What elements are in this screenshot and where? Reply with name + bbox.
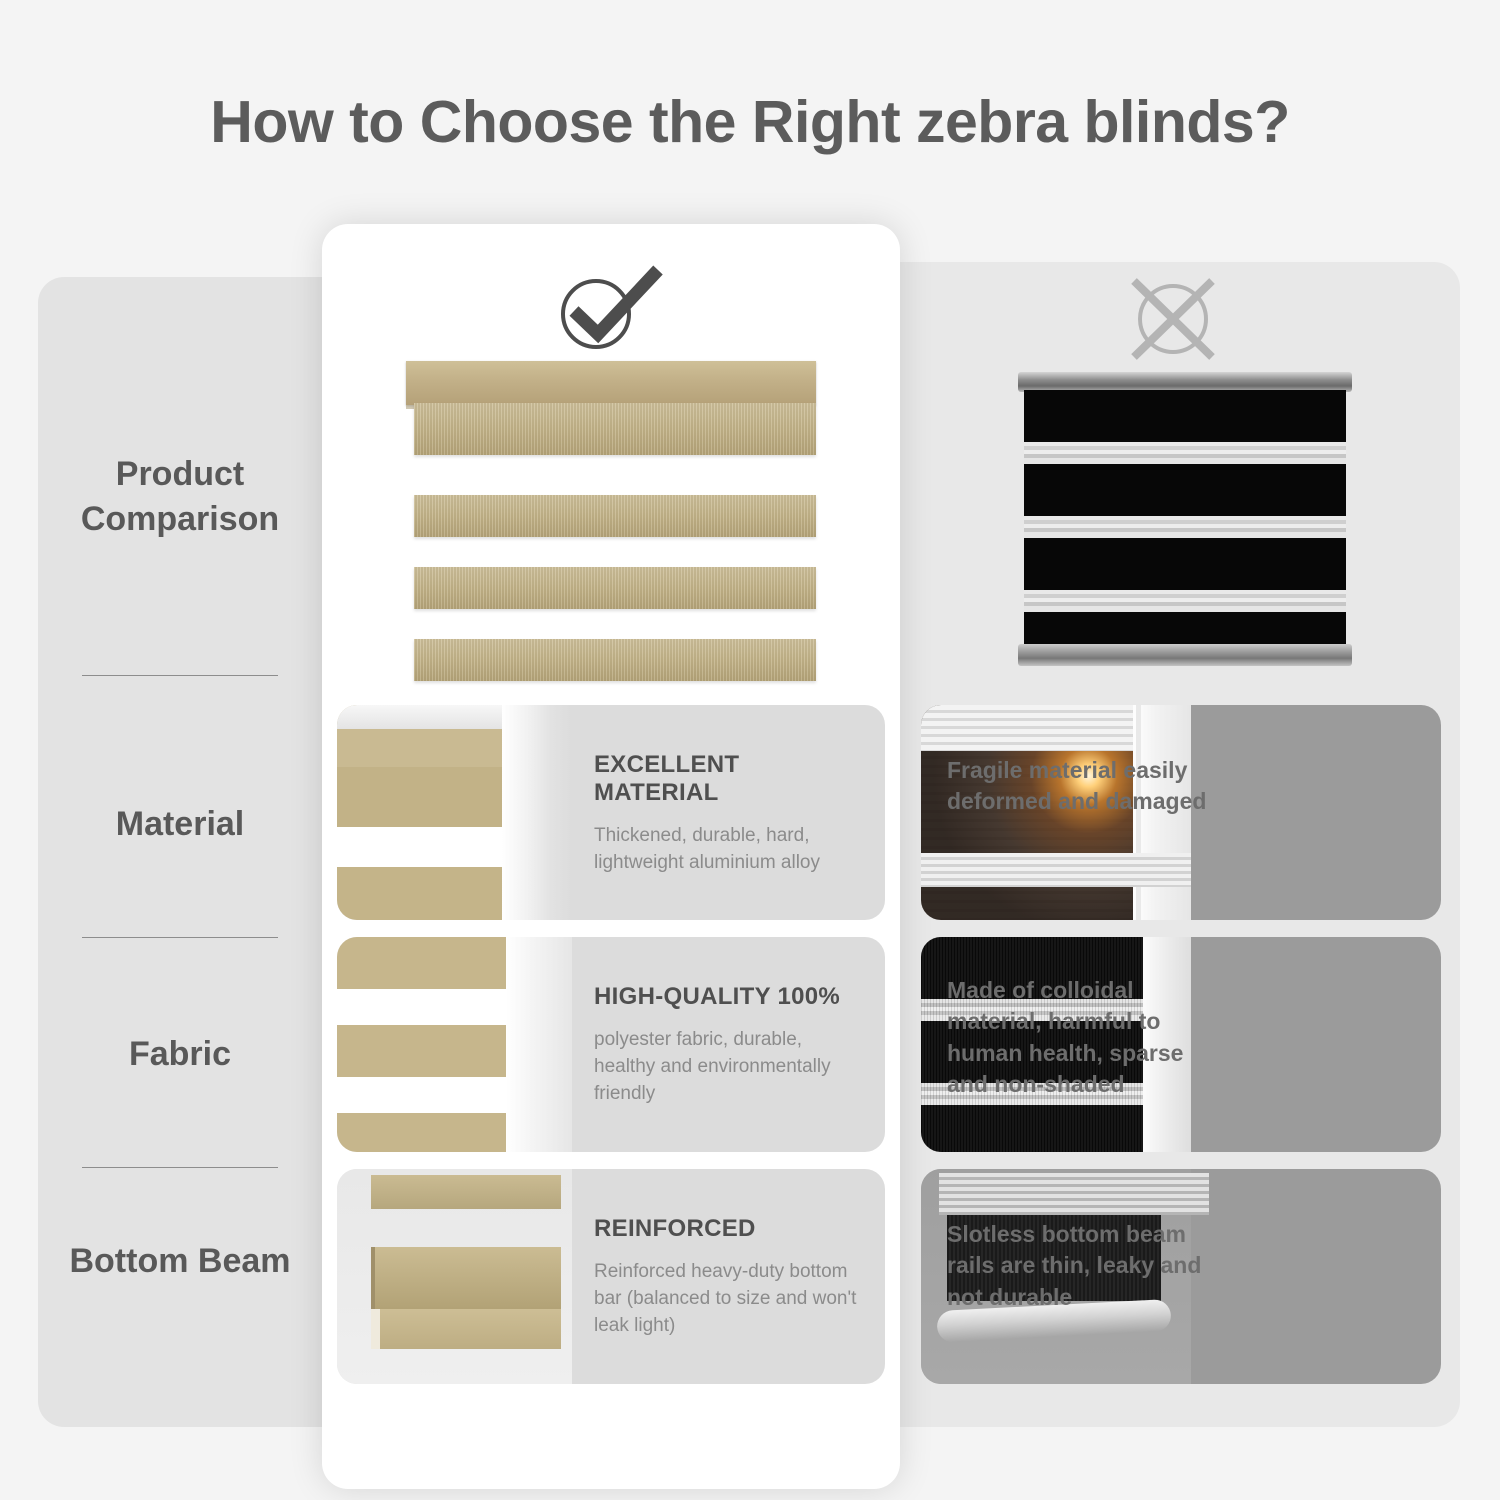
row-label-product-comparison: Product Comparison (38, 452, 322, 542)
bad-bottom-beam-text: Slotless bottom beam rails are thin, lea… (947, 1219, 1207, 1313)
bad-fabric-text: Made of colloidal material, harmful to h… (947, 975, 1207, 1100)
row-divider (82, 1167, 278, 1168)
row-label-column: Product Comparison Material Fabric Botto… (38, 277, 322, 1427)
good-product-hero-image (322, 345, 900, 700)
good-bottom-beam-text: REINFORCED Reinforced heavy-duty bottom … (572, 1169, 885, 1384)
good-feature-card-bottom-beam: REINFORCED Reinforced heavy-duty bottom … (337, 1169, 885, 1384)
row-label-fabric: Fabric (38, 1032, 322, 1077)
row-divider (82, 937, 278, 938)
good-fabric-text: HIGH-QUALITY 100% polyester fabric, dura… (572, 937, 885, 1152)
blind-slat (414, 567, 816, 609)
blind-valance (406, 361, 816, 405)
row-label-bottom-beam: Bottom Beam (38, 1239, 322, 1284)
good-feature-card-fabric: HIGH-QUALITY 100% polyester fabric, dura… (337, 937, 885, 1152)
good-fabric-image (337, 937, 572, 1152)
blind-top-rail (1018, 372, 1352, 392)
blind-slat (414, 639, 816, 681)
blind-slat (414, 495, 816, 537)
good-fabric-title: HIGH-QUALITY 100% (594, 983, 865, 1011)
good-material-body: Thickened, durable, hard, lightweight al… (594, 823, 865, 877)
good-bottom-beam-body: Reinforced heavy-duty bottom bar (balanc… (594, 1259, 865, 1340)
blind-bottom-bar (1018, 644, 1352, 666)
bad-material-text: Fragile material easily deformed and dam… (947, 755, 1207, 818)
blind-slat (414, 403, 816, 455)
bad-feature-card-fabric: Made of colloidal material, harmful to h… (921, 937, 1441, 1152)
good-bottom-beam-image (337, 1169, 572, 1384)
row-divider (82, 675, 278, 676)
check-circle-icon (546, 264, 668, 354)
good-material-title: EXCELLENT MATERIAL (594, 751, 865, 807)
blind-fabric (1024, 390, 1346, 646)
good-material-image (337, 705, 572, 920)
good-fabric-body: polyester fabric, durable, healthy and e… (594, 1027, 865, 1108)
bad-feature-card-bottom-beam: Slotless bottom beam rails are thin, lea… (921, 1169, 1441, 1384)
cross-circle-icon (1112, 272, 1234, 364)
good-bottom-beam-title: REINFORCED (594, 1215, 865, 1243)
good-feature-card-material: EXCELLENT MATERIAL Thickened, durable, h… (337, 705, 885, 920)
page-title: How to Choose the Right zebra blinds? (0, 88, 1500, 156)
row-label-material: Material (38, 802, 322, 847)
bad-feature-card-material: Fragile material easily deformed and dam… (921, 705, 1441, 920)
good-material-text: EXCELLENT MATERIAL Thickened, durable, h… (572, 705, 885, 920)
bad-product-hero-image (1010, 372, 1360, 672)
